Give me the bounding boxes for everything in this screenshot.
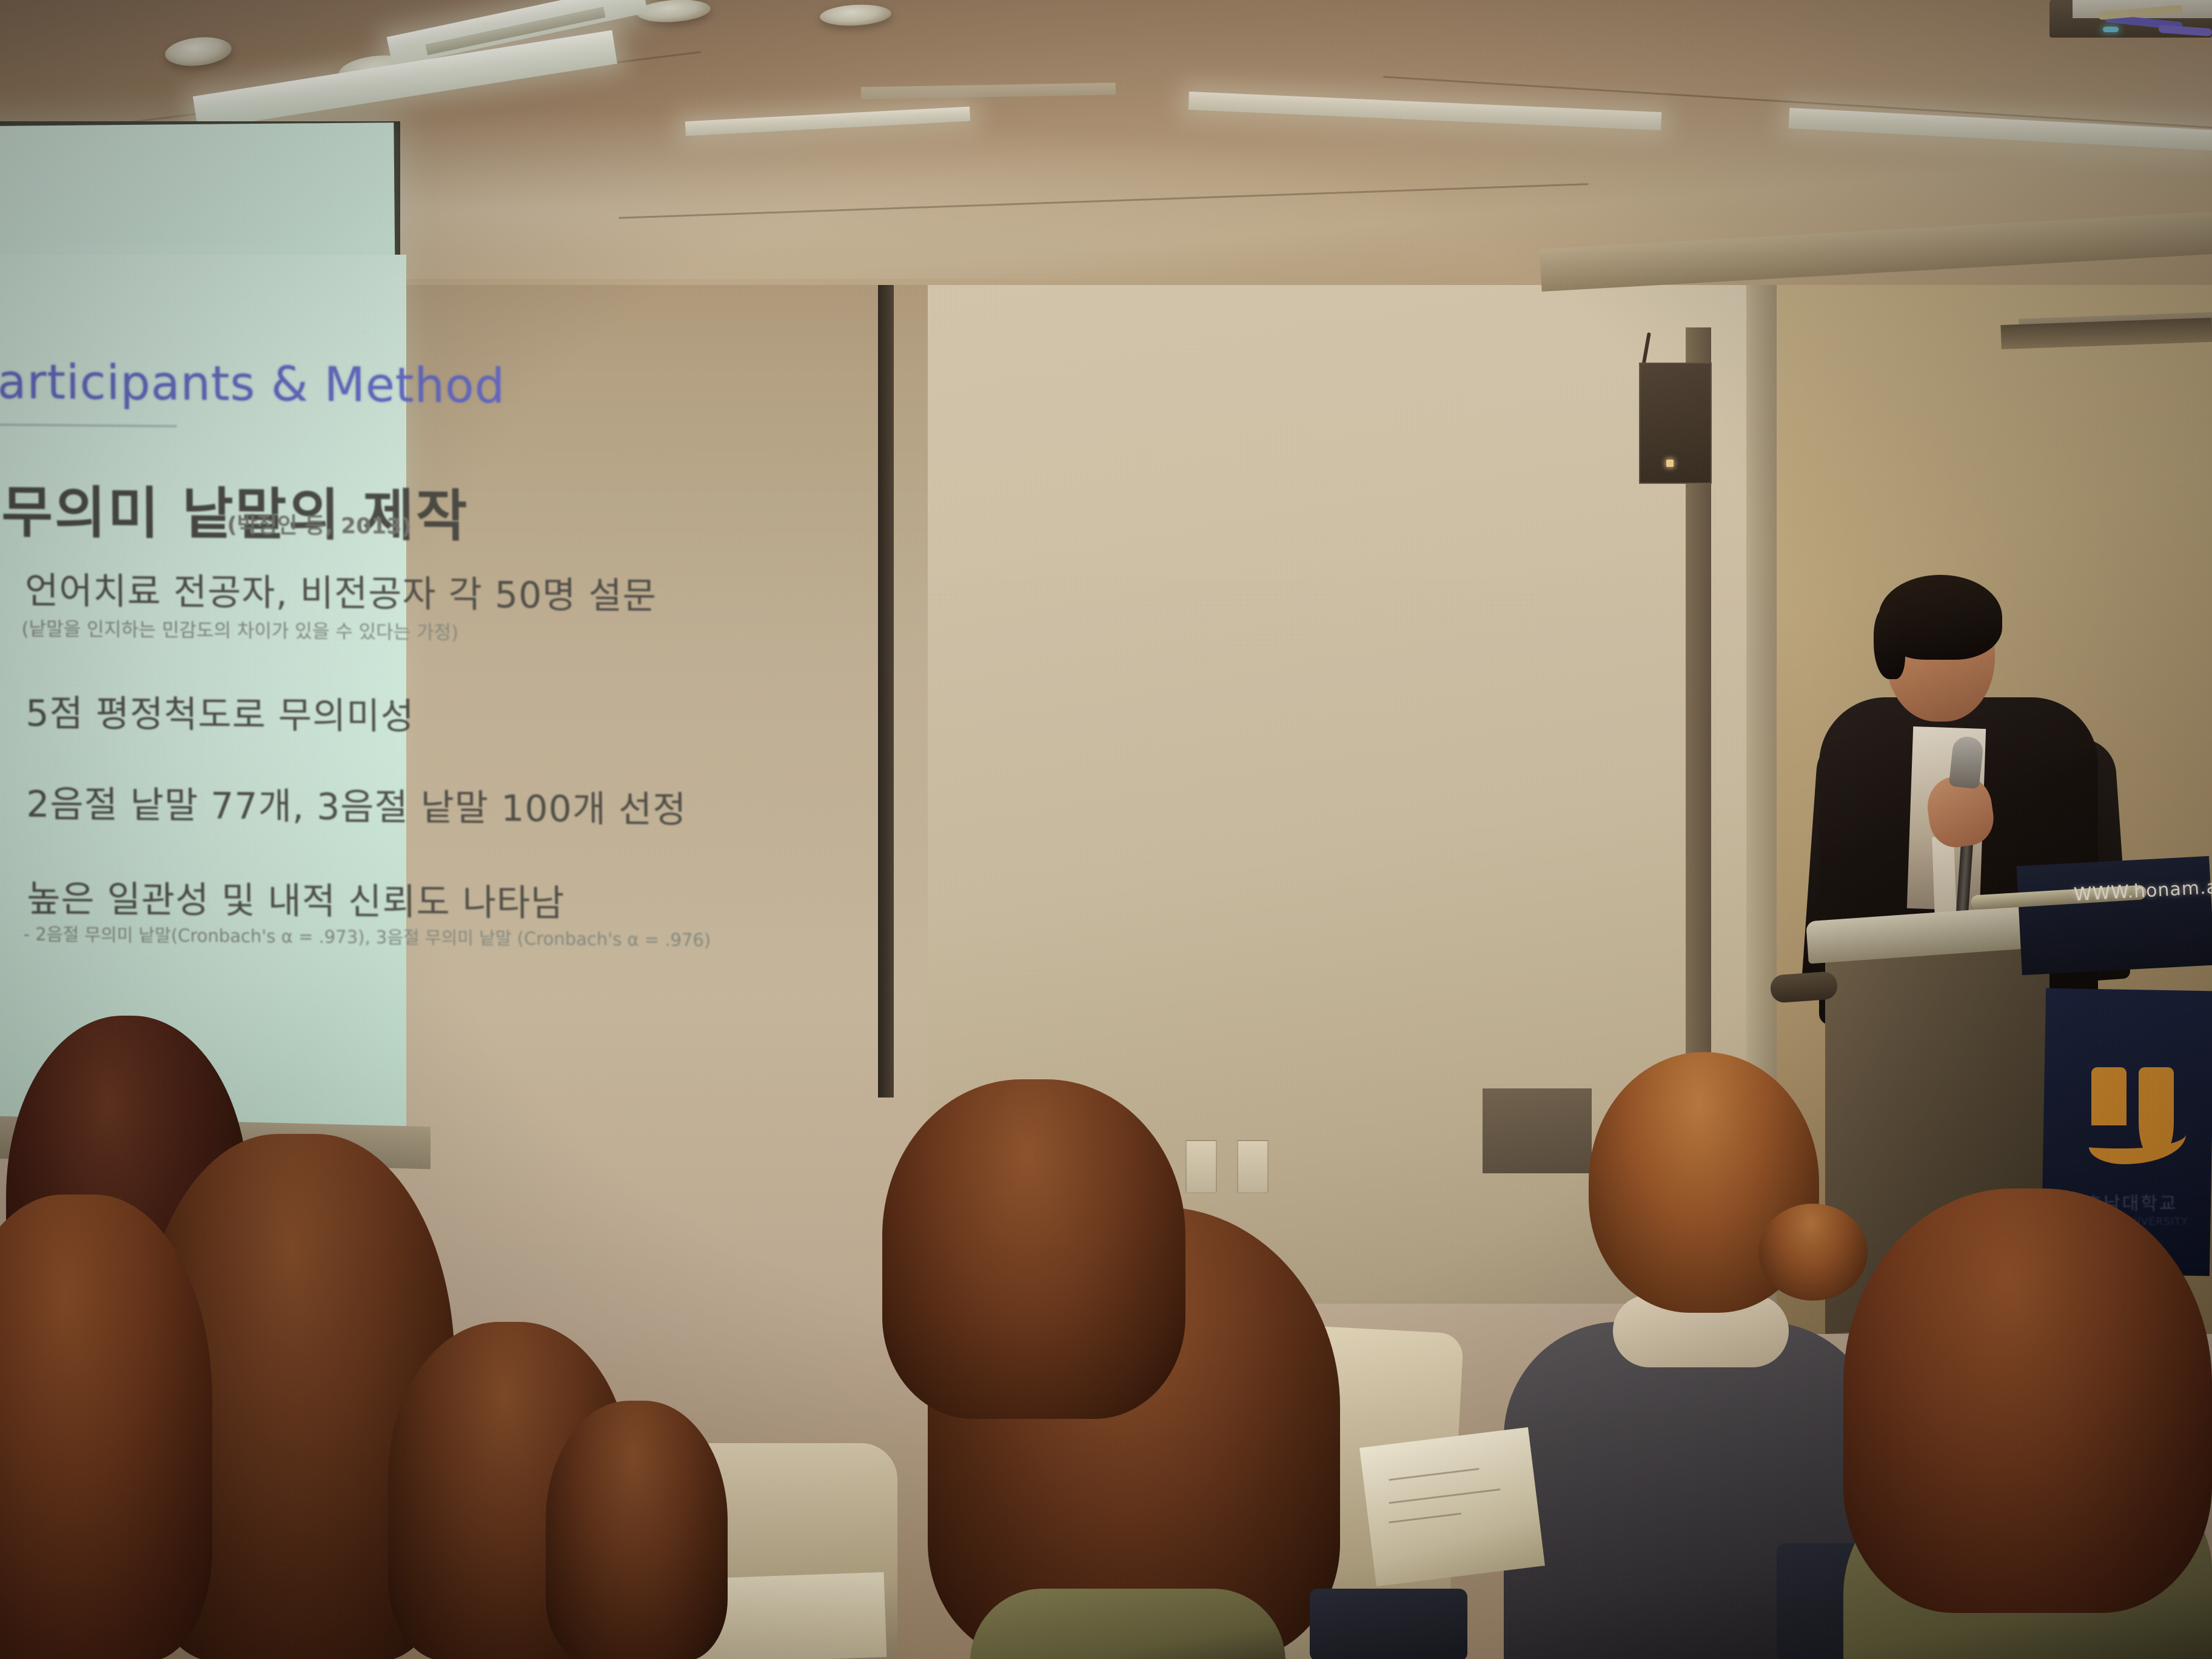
speaker-power-led — [1666, 460, 1674, 467]
wall-switch[interactable] — [1185, 1140, 1217, 1193]
audience-member-head — [882, 1079, 1185, 1419]
audience-member-head — [546, 1401, 728, 1659]
slide-section-header: Participants & Method — [0, 355, 505, 414]
projector-status-led — [2103, 27, 2119, 32]
microphone-head — [1949, 736, 1985, 789]
audience-member-shoulder — [970, 1589, 1285, 1659]
audience-member-hair-bun — [1758, 1204, 1868, 1301]
podium-side-knob — [1770, 971, 1838, 1004]
slide-bullet-3: 2음절 낱말 77개, 3음절 낱말 100개 선정 — [26, 775, 687, 834]
presenter-hair-side — [1874, 606, 1905, 679]
slide-bullet-1-note: (낱말을 인지하는 민감도의 차이가 있을 수 있다는 가정) — [21, 614, 458, 645]
audience-member-head — [0, 1195, 212, 1659]
slide-title-citation: (박정인 등, 2013) — [227, 508, 412, 541]
photograph-scene: Participants & Method 무의미 낱말의 제작 (박정인 등,… — [0, 0, 2212, 1659]
slide-header-underline — [0, 423, 177, 427]
wall-switch[interactable] — [1237, 1140, 1269, 1193]
slide-bullet-2: 5점 평정척도로 무의미성 — [25, 684, 415, 740]
handout-papers — [1359, 1427, 1545, 1586]
slide-bullet-1: 언어치료 전공자, 비전공자 각 50명 설문 — [25, 561, 657, 620]
university-logo-icon — [2089, 1067, 2186, 1164]
slide-bullet-4: 높은 일관성 및 내적 신뢰도 나타남 — [27, 870, 565, 927]
wall-vent-panel — [1483, 1088, 1592, 1173]
audience-member-head — [1843, 1188, 2212, 1613]
podium-front-panel — [2017, 856, 2212, 975]
slide-bullet-4-note: - 2음절 무의미 낱말(Cronbach's α = .973), 3음절 무… — [23, 920, 711, 952]
slide-content: Participants & Method 무의미 낱말의 제작 (박정인 등,… — [0, 276, 902, 1108]
wall-mounted-speaker — [1639, 363, 1712, 484]
chair-back — [1310, 1589, 1467, 1659]
